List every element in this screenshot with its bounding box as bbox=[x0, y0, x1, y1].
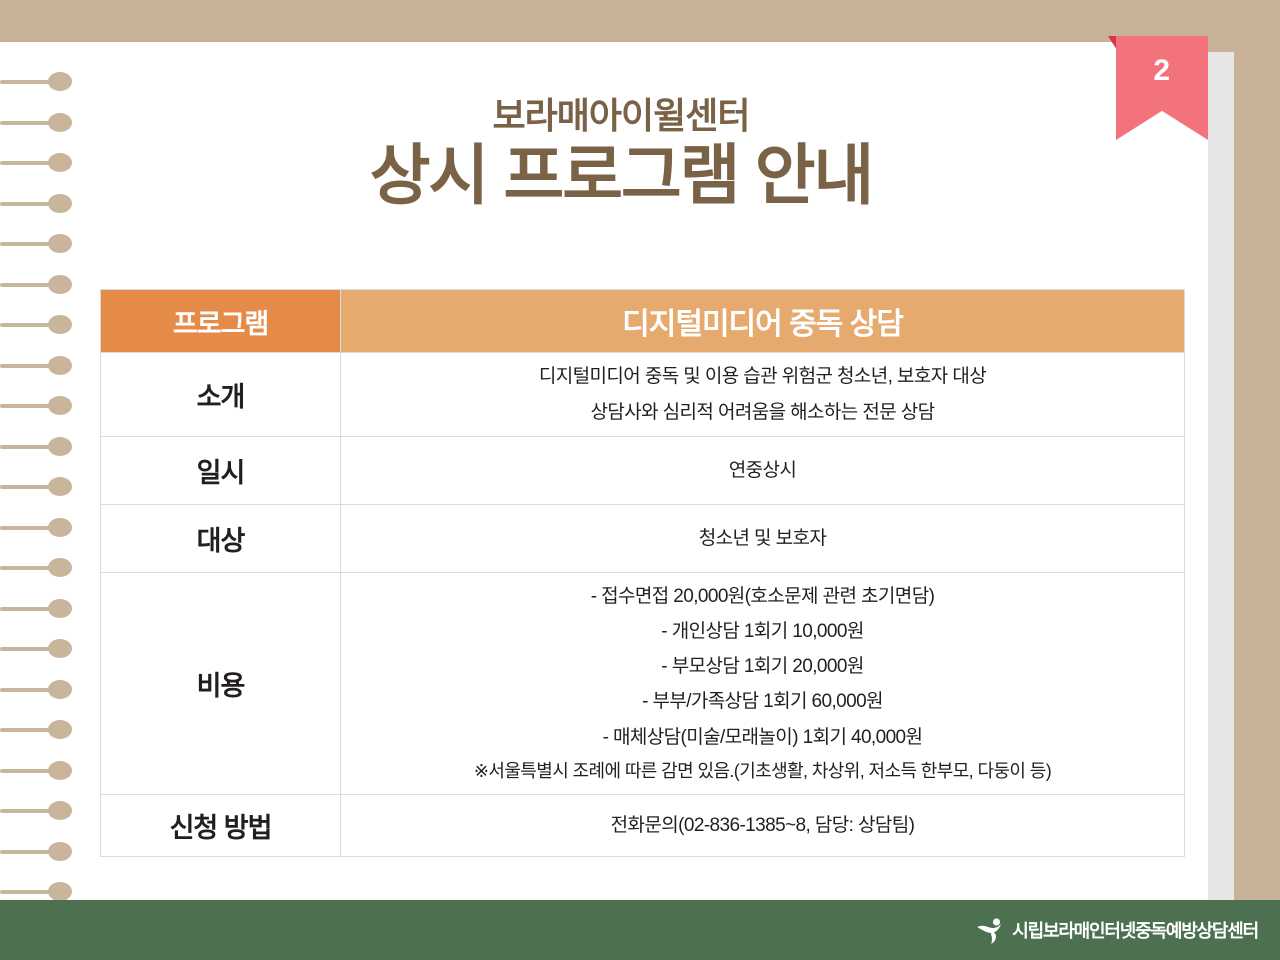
ribbon-fold-icon bbox=[1108, 36, 1117, 50]
page-number: 2 bbox=[1116, 54, 1208, 88]
person-swoosh-icon bbox=[976, 915, 1006, 945]
page-title: 상시 프로그램 안내 bbox=[96, 138, 1146, 214]
cost-line-5: - 매체상담(미술/모래놀이) 1회기 40,000원 bbox=[341, 720, 1184, 755]
cost-note: ※서울특별시 조례에 따른 감면 있음.(기초생활, 차상위, 저소득 한부모,… bbox=[341, 755, 1184, 788]
center-name: 보라매아이윌센터 bbox=[96, 96, 1146, 136]
cost-line-2: - 개인상담 1회기 10,000원 bbox=[341, 614, 1184, 649]
ribbon-flag-icon bbox=[1116, 36, 1208, 140]
table-row: 비용 - 접수면접 20,000원(호소문제 관련 초기면담) - 개인상담 1… bbox=[101, 573, 1185, 795]
footer-logo: 시립보라매인터넷중독예방상담센터 bbox=[976, 900, 1258, 960]
table-row: 소개 디지털미디어 중독 및 이용 습관 위험군 청소년, 보호자 대상 상담사… bbox=[101, 353, 1185, 437]
table-header-row: 프로그램 디지털미디어 중독 상담 bbox=[101, 290, 1185, 353]
cost-line-3: - 부모상담 1회기 20,000원 bbox=[341, 649, 1184, 684]
slide-canvas: 2 보라매아이윌센터 상시 프로그램 안내 프로그램 디지털미디어 중독 상담 … bbox=[0, 0, 1280, 960]
program-table-wrapper: 프로그램 디지털미디어 중독 상담 소개 디지털미디어 중독 및 이용 습관 위… bbox=[100, 289, 1185, 857]
intro-line-2: 상담사와 심리적 어려움을 해소하는 전문 상담 bbox=[341, 395, 1184, 430]
row-value-who: 청소년 및 보호자 bbox=[341, 505, 1185, 573]
table-header-label: 프로그램 bbox=[101, 290, 341, 353]
row-value-when: 연중상시 bbox=[341, 437, 1185, 505]
table-header-value: 디지털미디어 중독 상담 bbox=[341, 290, 1185, 353]
row-value-cost: - 접수면접 20,000원(호소문제 관련 초기면담) - 개인상담 1회기 … bbox=[341, 573, 1185, 795]
row-label-intro: 소개 bbox=[101, 353, 341, 437]
row-value-how: 전화문의(02-836-1385~8, 담당: 상담팀) bbox=[341, 795, 1185, 857]
table-row: 신청 방법 전화문의(02-836-1385~8, 담당: 상담팀) bbox=[101, 795, 1185, 857]
footer-bar: 시립보라매인터넷중독예방상담센터 bbox=[0, 900, 1280, 960]
page-number-bookmark: 2 bbox=[1116, 36, 1208, 140]
table-row: 대상 청소년 및 보호자 bbox=[101, 505, 1185, 573]
row-label-cost: 비용 bbox=[101, 573, 341, 795]
program-table: 프로그램 디지털미디어 중독 상담 소개 디지털미디어 중독 및 이용 습관 위… bbox=[100, 289, 1185, 857]
row-label-how: 신청 방법 bbox=[101, 795, 341, 857]
row-label-when: 일시 bbox=[101, 437, 341, 505]
row-label-who: 대상 bbox=[101, 505, 341, 573]
title-block: 보라매아이윌센터 상시 프로그램 안내 bbox=[96, 96, 1146, 213]
row-value-intro: 디지털미디어 중독 및 이용 습관 위험군 청소년, 보호자 대상 상담사와 심… bbox=[341, 353, 1185, 437]
cost-line-4: - 부부/가족상담 1회기 60,000원 bbox=[341, 684, 1184, 719]
intro-line-1: 디지털미디어 중독 및 이용 습관 위험군 청소년, 보호자 대상 bbox=[341, 359, 1184, 394]
cost-line-1: - 접수면접 20,000원(호소문제 관련 초기면담) bbox=[341, 579, 1184, 614]
footer-brand-text: 시립보라매인터넷중독예방상담센터 bbox=[1012, 917, 1258, 943]
table-row: 일시 연중상시 bbox=[101, 437, 1185, 505]
